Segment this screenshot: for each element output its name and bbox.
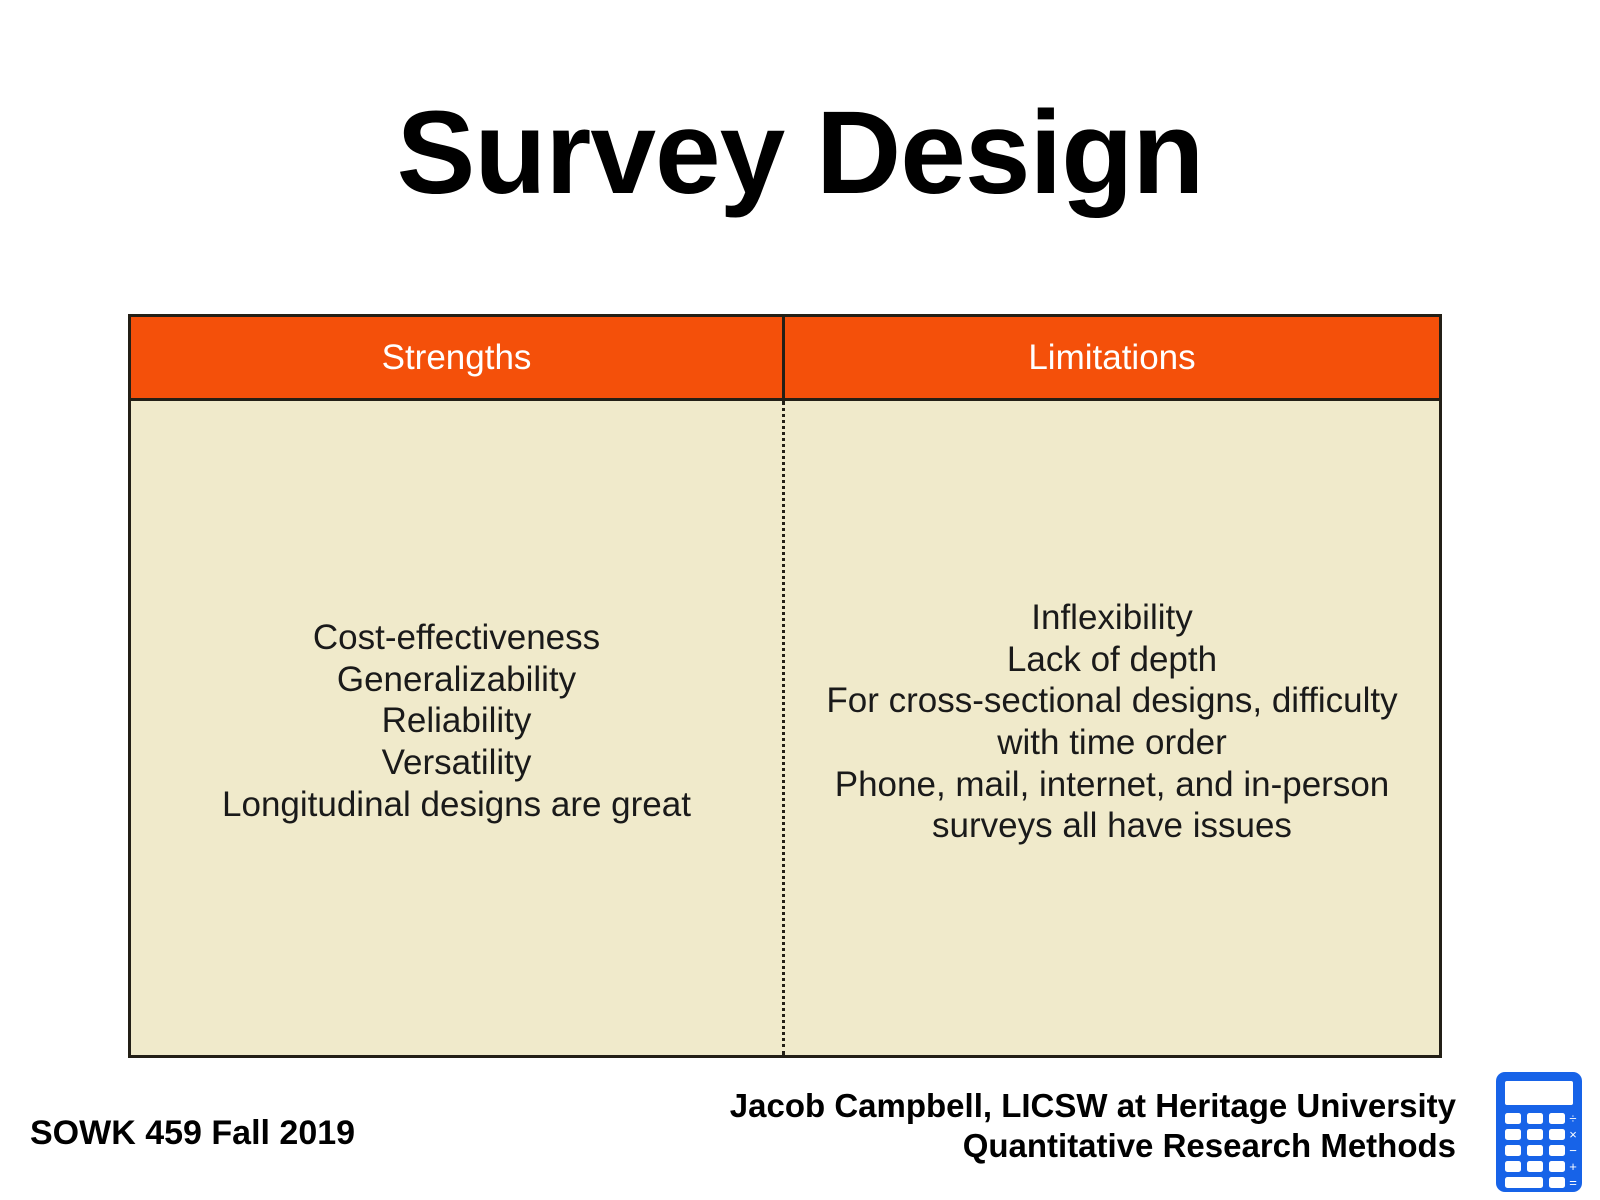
table-header-strengths: Strengths (131, 317, 785, 398)
svg-text:+: + (1569, 1159, 1577, 1174)
table-header-strengths-label: Strengths (382, 338, 532, 378)
svg-text:=: = (1569, 1175, 1577, 1190)
svg-text:×: × (1569, 1127, 1577, 1142)
footer-course-label: SOWK 459 Fall 2019 (30, 1114, 355, 1153)
table-cell-strengths: Cost-effectiveness Generalizability Reli… (131, 401, 785, 1055)
table-body-row: Cost-effectiveness Generalizability Reli… (131, 401, 1439, 1055)
strengths-list: Cost-effectiveness Generalizability Reli… (145, 617, 768, 825)
footer-credit: Jacob Campbell, LICSW at Heritage Univer… (730, 1086, 1456, 1167)
calculator-icon: ÷ × − + = (1496, 1072, 1582, 1192)
svg-text:−: − (1569, 1143, 1577, 1158)
table-cell-limitations: Inflexibility Lack of depth For cross-se… (785, 401, 1439, 1055)
limitations-list: Inflexibility Lack of depth For cross-se… (799, 597, 1425, 847)
footer-credit-line-2: Quantitative Research Methods (730, 1126, 1456, 1166)
page-title: Survey Design (0, 92, 1600, 216)
footer-credit-line-1: Jacob Campbell, LICSW at Heritage Univer… (730, 1086, 1456, 1126)
table-header-limitations-label: Limitations (1028, 338, 1195, 378)
svg-text:÷: ÷ (1569, 1111, 1576, 1126)
table-header-row: Strengths Limitations (131, 317, 1439, 401)
strengths-limitations-table: Strengths Limitations Cost-effectiveness… (128, 314, 1442, 1058)
table-header-limitations: Limitations (785, 317, 1439, 398)
